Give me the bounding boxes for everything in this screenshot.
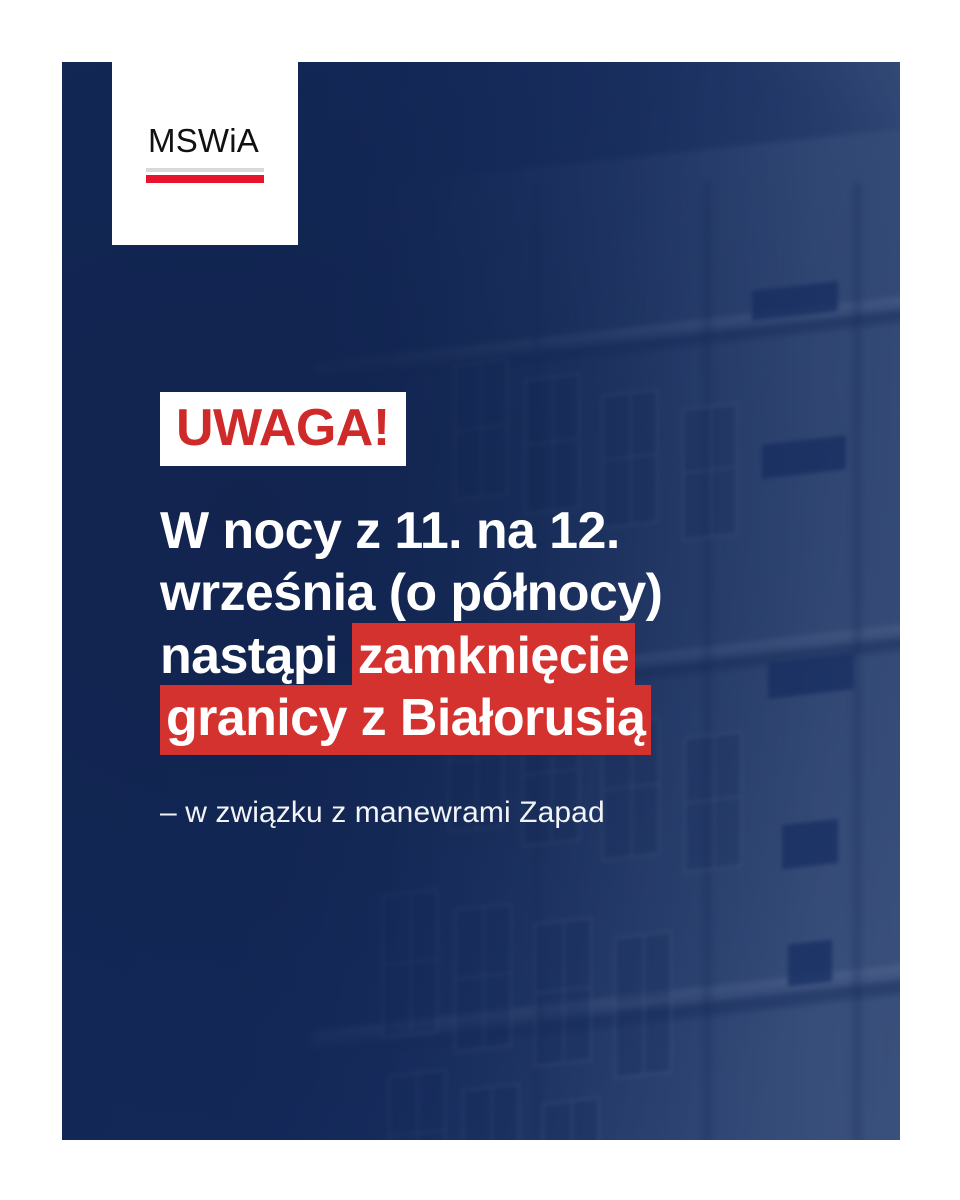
polish-flag-red-bar-icon (146, 175, 264, 183)
page-canvas: MSWiA UWAGA! W nocy z 11. na 12. wrześni… (0, 0, 960, 1200)
headline-line-1: W nocy z 11. na 12. (160, 502, 620, 560)
alert-kicker-wrap: UWAGA! (160, 392, 860, 466)
alert-kicker-badge: UWAGA! (160, 392, 406, 466)
mswia-logo[interactable]: MSWiA (112, 62, 298, 245)
announcement-content: UWAGA! W nocy z 11. na 12. września (o p… (160, 392, 860, 831)
headline-highlight-2: granicy z Białorusią (160, 685, 651, 755)
announcement-subline: – w związku z manewrami Zapad (160, 794, 860, 832)
headline-highlight-1: zamknięcie (352, 623, 636, 693)
poster-card: MSWiA UWAGA! W nocy z 11. na 12. wrześni… (62, 62, 900, 1140)
mswia-wordmark: MSWiA (148, 124, 264, 157)
announcement-headline: W nocy z 11. na 12. września (o północy)… (160, 500, 860, 750)
mswia-logo-inner: MSWiA (146, 124, 264, 183)
headline-line-3-plain: nastąpi (160, 627, 352, 685)
headline-line-2: września (o północy) (160, 564, 662, 622)
polish-flag-white-bar-icon (146, 168, 264, 172)
